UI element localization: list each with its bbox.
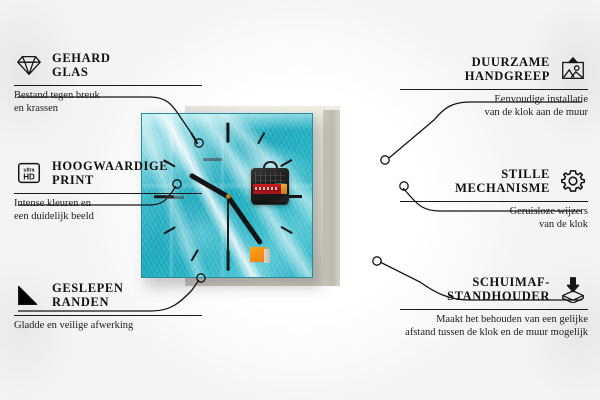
connector-node-foam bbox=[373, 257, 381, 265]
feature-header: GEHARD GLAS bbox=[14, 48, 202, 82]
feature-title: DUURZAME HANDGREEP bbox=[465, 55, 550, 83]
feature-title: HOOGWAARDIGE PRINT bbox=[52, 159, 168, 187]
feature-header: SCHUIMAF- STANDHOUDER bbox=[400, 272, 588, 306]
feature-divider bbox=[14, 315, 202, 316]
mechanism-base bbox=[252, 202, 288, 205]
feature-description: Gladde en veilige afwerking bbox=[14, 320, 202, 333]
feature-tempered-glass: GEHARD GLAS Bestand tegen breuk en krass… bbox=[14, 48, 202, 115]
feature-title: STILLE MECHANISME bbox=[455, 167, 550, 195]
feature-divider bbox=[14, 85, 202, 86]
feature-description: Intense kleuren en een duidelijk beeld bbox=[14, 198, 202, 223]
battery-print bbox=[255, 187, 277, 190]
feature-description: Maakt het behouden van een gelijke afsta… bbox=[400, 314, 588, 339]
svg-text:HD: HD bbox=[23, 173, 35, 182]
clock-tick-12 bbox=[226, 122, 229, 142]
battery-positive-terminal bbox=[281, 184, 287, 194]
feature-header: DUURZAME HANDGREEP bbox=[400, 52, 588, 86]
feature-durable-hanger: DUURZAME HANDGREEP Eenvoudige installati… bbox=[400, 52, 588, 119]
press-down-pad-icon bbox=[558, 275, 588, 303]
feature-header: STILLE MECHANISME bbox=[400, 164, 588, 198]
feature-polished-edges: GESLEPEN RANDEN Gladde en veilige afwerk… bbox=[14, 278, 202, 333]
infographic-canvas: GEHARD GLAS Bestand tegen breuk en krass… bbox=[0, 0, 600, 400]
feature-foam-standoff: SCHUIMAF- STANDHOUDER Maakt het behouden… bbox=[400, 272, 588, 339]
gear-icon bbox=[558, 167, 588, 195]
feature-divider bbox=[400, 89, 588, 90]
wall-backdrop-edge bbox=[323, 110, 340, 286]
feature-divider bbox=[400, 309, 588, 310]
diamond-icon bbox=[14, 51, 44, 79]
feature-description: Eenvoudige installatie van de klok aan d… bbox=[400, 94, 588, 119]
feature-high-quality-print: ultra HD HOOGWAARDIGE PRINT Intense kleu… bbox=[14, 156, 202, 223]
connector-node-hanger bbox=[381, 156, 389, 164]
glass-hint-dash-1 bbox=[203, 158, 222, 161]
feature-description: Geruisloze wijzers van de klok bbox=[400, 206, 588, 231]
ultra-hd-icon: ultra HD bbox=[14, 159, 44, 187]
quartz-mechanism bbox=[250, 161, 290, 205]
feature-header: ultra HD HOOGWAARDIGE PRINT bbox=[14, 156, 202, 190]
feature-title: GEHARD GLAS bbox=[52, 51, 110, 79]
feature-title: GESLEPEN RANDEN bbox=[52, 281, 124, 309]
clock-center-cap bbox=[226, 194, 231, 199]
feature-title: SCHUIMAF- STANDHOUDER bbox=[447, 275, 550, 303]
ground-edges-icon bbox=[14, 281, 44, 309]
feature-divider bbox=[400, 201, 588, 202]
feature-description: Bestand tegen breuk en krassen bbox=[14, 90, 202, 115]
framed-picture-hanging-icon bbox=[558, 55, 588, 83]
feature-header: GESLEPEN RANDEN bbox=[14, 278, 202, 312]
foam-standoff-pad-shadow bbox=[264, 249, 270, 263]
feature-divider bbox=[14, 193, 202, 194]
feature-silent-mechanism: STILLE MECHANISME Geruisloze wijzers van… bbox=[400, 164, 588, 231]
clock-second-hand bbox=[227, 197, 228, 267]
